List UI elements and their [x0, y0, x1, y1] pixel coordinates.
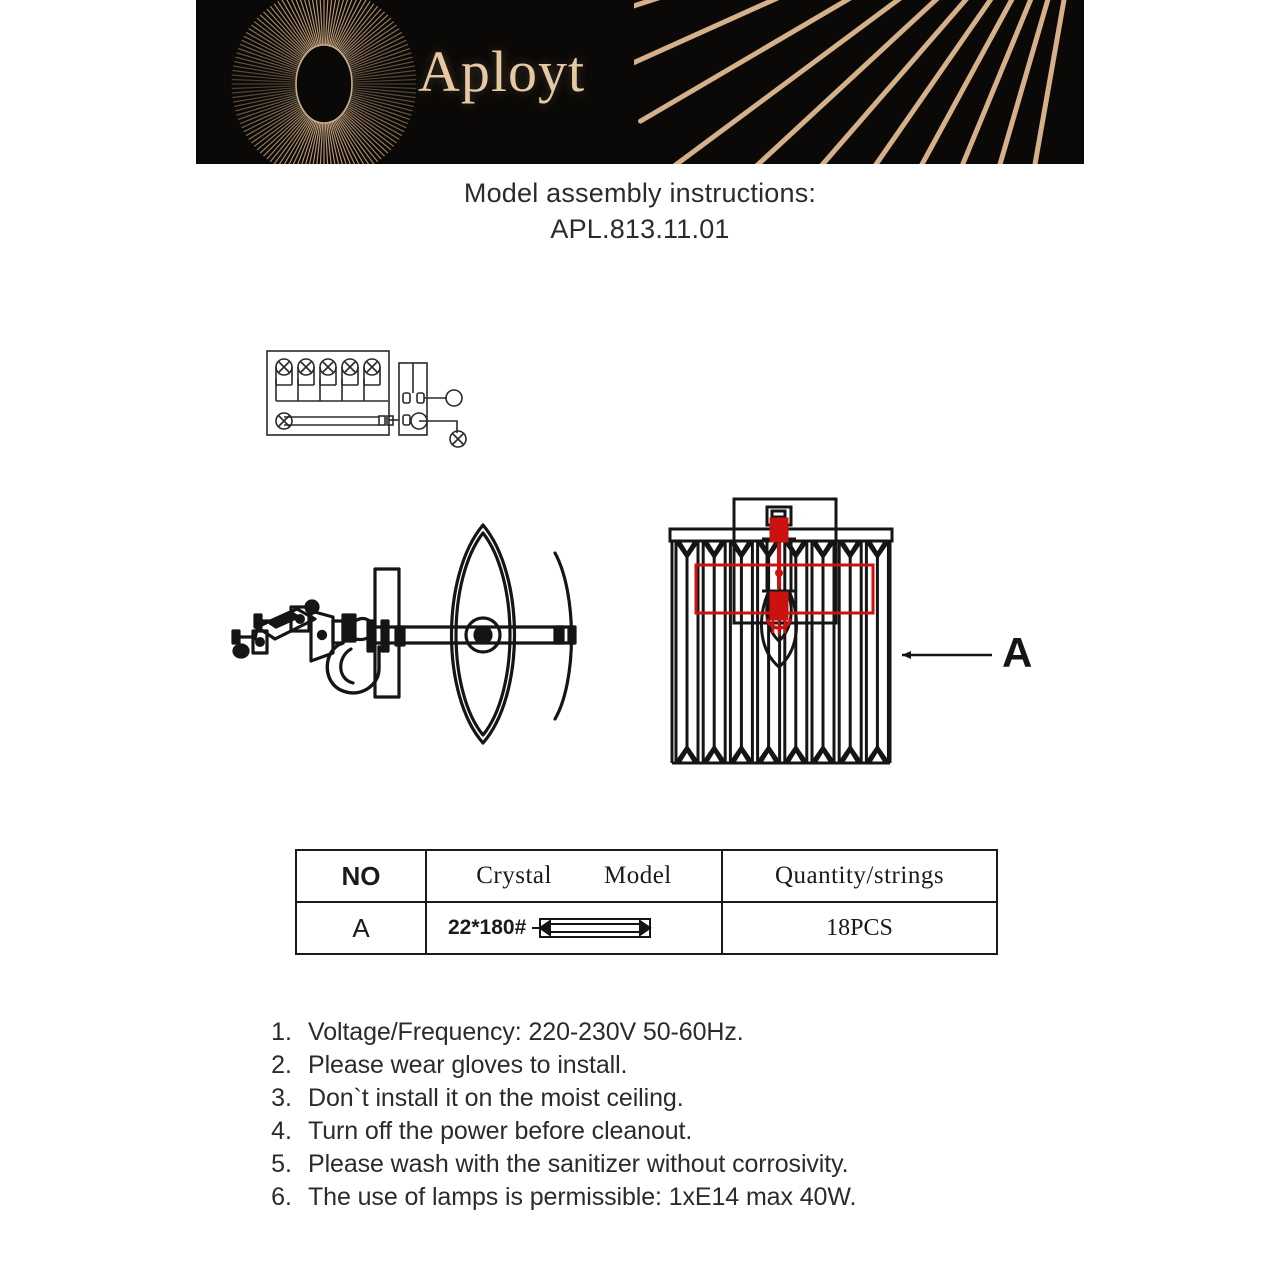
cell-quantity: 18PCS — [722, 902, 997, 954]
parts-table: NO CrystalModel Quantity/strings A 22*18… — [295, 849, 998, 955]
list-item-number: 1. — [250, 1018, 292, 1047]
list-item-number: 2. — [250, 1051, 292, 1080]
crystal-bar-icon — [532, 916, 656, 940]
title-model-code: APL.813.11.01 — [0, 212, 1280, 248]
list-item: 2. Please wear gloves to install. — [250, 1051, 1150, 1080]
list-item-number: 3. — [250, 1084, 292, 1113]
header-no: NO — [296, 850, 426, 902]
list-item-number: 6. — [250, 1183, 292, 1212]
title-line-1: Model assembly instructions: — [0, 176, 1280, 212]
list-item-number: 5. — [250, 1150, 292, 1179]
brand-wordmark: Aployt — [418, 38, 585, 105]
cell-crystal-model: 22*180# — [426, 902, 722, 954]
table-row: A 22*180# 18P — [296, 902, 997, 954]
list-item-text: Turn off the power before cleanout. — [308, 1117, 692, 1146]
list-item-text: Please wash with the sanitizer without c… — [308, 1150, 849, 1179]
list-item: 5. Please wash with the sanitizer withou… — [250, 1150, 1150, 1179]
instructions-list: 1. Voltage/Frequency: 220-230V 50-60Hz. … — [250, 1018, 1150, 1216]
list-item: 6. The use of lamps is permissible: 1xE1… — [250, 1183, 1150, 1212]
header-crystal-model: CrystalModel — [426, 850, 722, 902]
instruction-sheet: Aployt Model assembly instructions: APL.… — [0, 0, 1280, 1280]
list-item: 4. Turn off the power before cleanout. — [250, 1117, 1150, 1146]
radiating-rays-icon — [634, 0, 1084, 164]
list-item-number: 4. — [250, 1117, 292, 1146]
list-item: 3. Don`t install it on the moist ceiling… — [250, 1084, 1150, 1113]
list-item-text: The use of lamps is permissible: 1xE14 m… — [308, 1183, 856, 1212]
exploded-assembly-diagram — [225, 515, 585, 765]
cell-no: A — [296, 902, 426, 954]
page-title: Model assembly instructions: APL.813.11.… — [0, 176, 1280, 247]
table-header-row: NO CrystalModel Quantity/strings — [296, 850, 997, 902]
wiring-terminal-diagram — [262, 345, 494, 450]
callout-label-a: A — [1002, 629, 1032, 676]
list-item: 1. Voltage/Frequency: 220-230V 50-60Hz. — [250, 1018, 1150, 1047]
list-item-text: Voltage/Frequency: 220-230V 50-60Hz. — [308, 1018, 744, 1047]
crystal-wall-lamp-diagram: A — [650, 485, 1040, 785]
header-quantity: Quantity/strings — [722, 850, 997, 902]
header-crystal: Crystal — [476, 862, 552, 889]
callout-leader-line — [902, 651, 992, 659]
header-model: Model — [604, 862, 672, 889]
sunburst-icon — [228, 0, 420, 164]
list-item-text: Don`t install it on the moist ceiling. — [308, 1084, 684, 1113]
brand-banner: Aployt — [196, 0, 1084, 164]
list-item-text: Please wear gloves to install. — [308, 1051, 627, 1080]
